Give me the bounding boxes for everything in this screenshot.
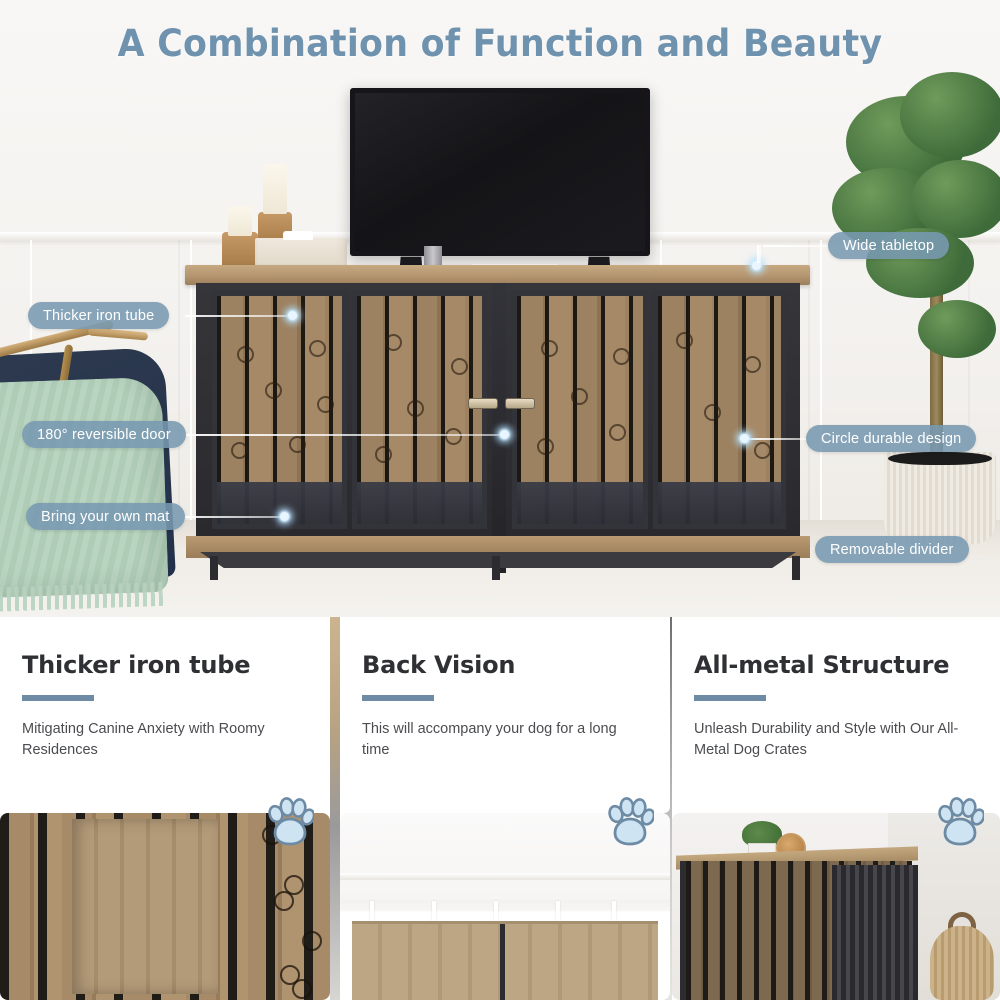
paw-print-icon xyxy=(936,797,984,847)
plant-foliage xyxy=(900,72,1000,158)
crate-door-right xyxy=(512,291,648,529)
callout-leader xyxy=(185,315,293,317)
callout-thicker-iron-tube[interactable]: Thicker iron tube xyxy=(28,302,169,329)
callout-dot xyxy=(280,512,289,521)
hero-section: Thicker iron tube 180° reversible door B… xyxy=(0,0,1000,617)
callout-removable-divider[interactable]: Removable divider xyxy=(815,536,969,563)
plant-foliage xyxy=(912,160,1000,238)
callout-leader xyxy=(748,438,810,440)
crate-mat xyxy=(357,482,482,524)
callout-leader xyxy=(182,434,504,436)
crate-mat xyxy=(517,482,643,524)
crate-foot xyxy=(792,556,800,580)
feature-card-3-heading: All-metal Structure xyxy=(694,651,978,679)
accent-rule xyxy=(694,695,766,701)
feature-card-1-body: Mitigating Canine Anxiety with Roomy Res… xyxy=(22,719,308,761)
callout-leader xyxy=(180,516,285,518)
callout-leader xyxy=(757,245,761,263)
plant-foliage xyxy=(918,300,996,358)
callout-leader xyxy=(763,245,829,247)
feature-card-3-body: Unleash Durability and Style with Our Al… xyxy=(694,719,978,761)
callout-dot xyxy=(500,430,509,439)
callout-dot xyxy=(740,434,749,443)
photo-strip-separator xyxy=(330,617,340,1000)
feature-card-1: Thicker iron tube Mitigating Canine Anxi… xyxy=(0,617,330,1000)
candle xyxy=(263,164,287,214)
accent-rule xyxy=(362,695,434,701)
tv-screen xyxy=(355,93,645,251)
feature-card-2-body: This will accompany your dog for a long … xyxy=(362,719,648,761)
crate-door-right-2 xyxy=(653,291,786,529)
callout-bring-your-own-mat[interactable]: Bring your own mat xyxy=(26,503,185,530)
callout-circle-durable-design[interactable]: Circle durable design xyxy=(806,425,976,452)
crate-mat xyxy=(658,482,781,524)
paw-print-icon xyxy=(266,797,314,847)
crate-door-left xyxy=(212,291,347,529)
feature-card-2-text: Back Vision This will accompany your dog… xyxy=(340,617,670,813)
feature-card-3: All-metal Structure Unleash Durability a… xyxy=(672,617,1000,1000)
feature-card-2-heading: Back Vision xyxy=(362,651,648,679)
television xyxy=(350,88,650,256)
callout-dot xyxy=(288,311,297,320)
callout-wide-tabletop[interactable]: Wide tabletop xyxy=(828,232,949,259)
feature-card-3-text: All-metal Structure Unleash Durability a… xyxy=(672,617,1000,813)
plant-pot xyxy=(884,452,996,544)
door-latch xyxy=(468,398,498,409)
callout-reversible-door[interactable]: 180° reversible door xyxy=(22,421,186,448)
candle xyxy=(228,206,252,236)
feature-card-1-heading: Thicker iron tube xyxy=(22,651,308,679)
infographic-page: Thicker iron tube 180° reversible door B… xyxy=(0,0,1000,1000)
feature-card-2: Back Vision This will accompany your dog… xyxy=(340,617,670,1000)
crate-foot xyxy=(210,556,218,580)
page-title: A Combination of Function and Beauty xyxy=(30,22,970,65)
crate-door-left-2 xyxy=(352,291,487,529)
knit-blanket xyxy=(0,377,169,598)
features-section: Thicker iron tube Mitigating Canine Anxi… xyxy=(0,617,1000,1000)
crate-tabletop xyxy=(185,265,810,285)
removable-divider-post xyxy=(492,283,506,573)
door-latch xyxy=(505,398,535,409)
feature-card-1-text: Thicker iron tube Mitigating Canine Anxi… xyxy=(0,617,330,813)
crate-foot xyxy=(492,556,500,580)
paw-print-icon xyxy=(606,797,654,847)
accent-rule xyxy=(22,695,94,701)
